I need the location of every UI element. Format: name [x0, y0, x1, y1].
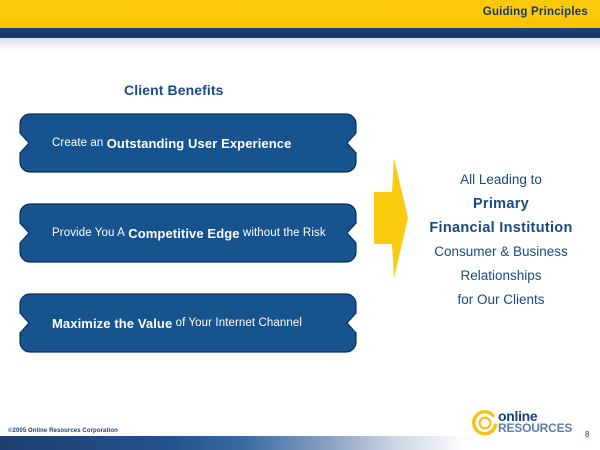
benefit-emphasis-text: Competitive Edge [128, 226, 239, 241]
benefit-label: Create an Outstanding User Experience [52, 110, 291, 176]
page-title: Client Benefits [124, 82, 224, 98]
benefit-label: Provide You A Competitive Edge without t… [52, 200, 326, 266]
outcome-line: All Leading to [408, 168, 594, 192]
benefit-label: Maximize the Value of Your Internet Chan… [52, 290, 302, 356]
outcome-line: Financial Institution [408, 216, 594, 240]
online-resources-swirl-icon [470, 408, 500, 438]
benefit-lead-text: Create an [52, 137, 103, 149]
header-blue-rule [0, 28, 600, 38]
benefit-ribbon-maximize-value[interactable]: Maximize the Value of Your Internet Chan… [18, 290, 358, 356]
outcome-line: for Our Clients [408, 288, 594, 312]
copyright-text: ©2005 Online Resources Corporation [8, 428, 118, 434]
outcome-line: Consumer & Business [408, 240, 594, 264]
benefit-lead-text: Provide You A [52, 227, 125, 239]
benefit-emphasis-text: Maximize the Value [52, 316, 172, 331]
right-arrow-icon [372, 158, 410, 278]
company-logo: online RESOURCES [470, 406, 576, 440]
outcome-line: Relationships [408, 264, 594, 288]
slide-number: 8 [585, 430, 589, 439]
benefit-ribbon-outstanding-user-experience[interactable]: Create an Outstanding User Experience [18, 110, 358, 176]
benefit-trail-text: without the Risk [243, 227, 326, 239]
header-fade [0, 38, 600, 52]
outcome-statement: All Leading to Primary Financial Institu… [408, 168, 594, 312]
benefit-emphasis-text: Outstanding User Experience [107, 136, 292, 151]
logo-subwordmark: RESOURCES [498, 422, 572, 434]
slide-canvas: Guiding Principles Client Benefits Creat… [0, 0, 600, 450]
outcome-line: Primary [408, 192, 594, 216]
slide-header-title: Guiding Principles [483, 6, 588, 18]
benefit-trail-text: of Your Internet Channel [176, 317, 302, 329]
benefit-ribbon-competitive-edge[interactable]: Provide You A Competitive Edge without t… [18, 200, 358, 266]
